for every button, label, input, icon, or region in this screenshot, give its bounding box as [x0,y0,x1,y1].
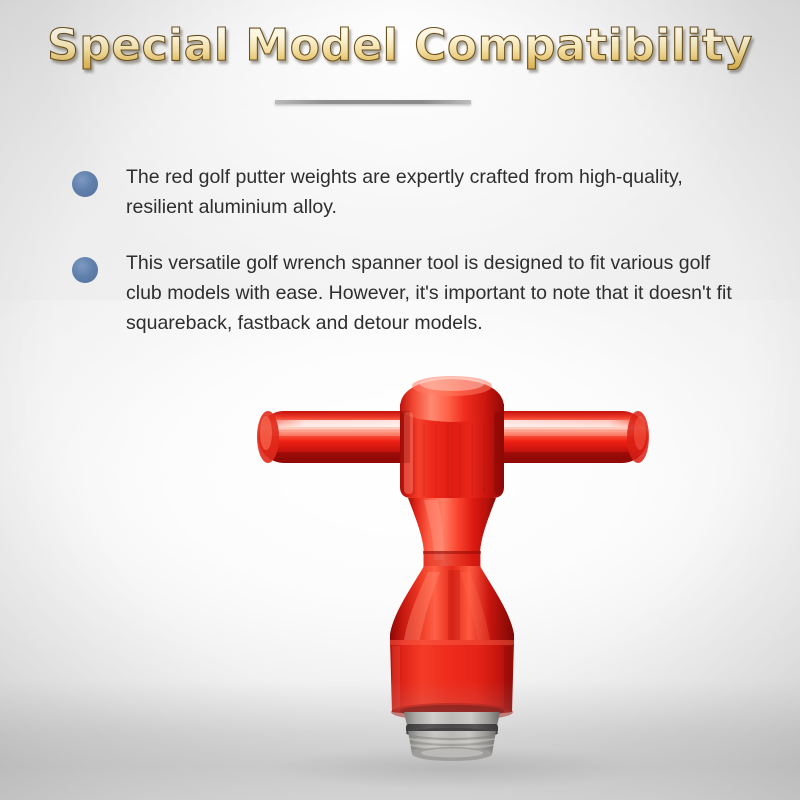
bullet-text: This versatile golf wrench spanner tool … [126,248,732,338]
wrench-head [400,376,504,498]
stage-shadow [0,680,800,800]
wrench-neck [408,498,496,567]
title-divider [275,100,471,104]
product-image [0,0,800,800]
wrench-threaded-tip [404,712,500,761]
feature-bullet-list: The red golf putter weights are expertly… [72,162,732,364]
vignette-overlay [0,0,800,800]
page-title: Special Model Compatibility [47,22,753,70]
bullet-dot-icon [72,257,98,283]
bullet-dot-icon [72,171,98,197]
product-infographic: Special Model Compatibility The red golf… [0,0,800,800]
list-item: The red golf putter weights are expertly… [72,162,732,222]
list-item: This versatile golf wrench spanner tool … [72,248,732,338]
wrench-cross-bar [257,411,649,463]
page-title-container: Special Model Compatibility [0,22,800,70]
wrench-bottom-collar [390,640,514,721]
stage-light [0,300,800,800]
bullet-text: The red golf putter weights are expertly… [126,162,732,222]
product-ground-shadow [262,746,642,790]
wrench-lower-cone [390,566,514,646]
